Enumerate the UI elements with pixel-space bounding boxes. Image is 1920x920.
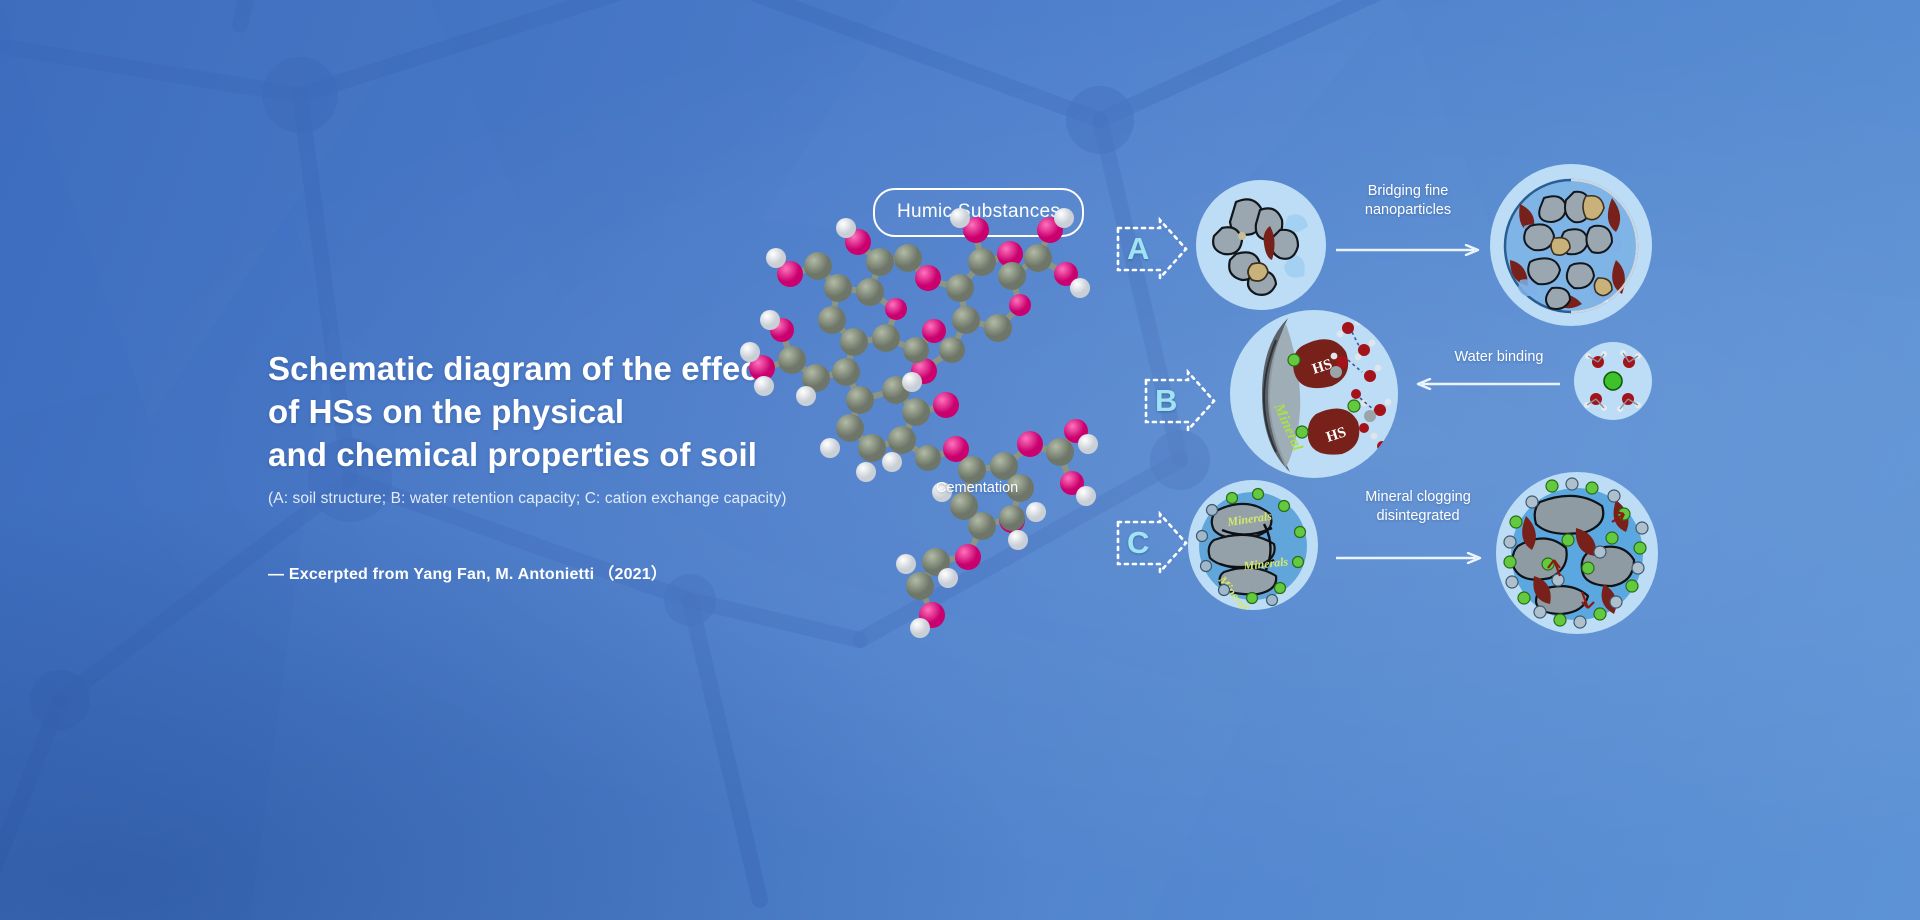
cemented-minerals-icon: Minerals Minerals Minerals xyxy=(1188,480,1318,610)
circle-soil-aggregate-bridged xyxy=(1490,164,1652,326)
row-marker-a: A xyxy=(1112,216,1190,282)
circle-disintegrated-minerals xyxy=(1496,472,1658,634)
soil-aggregate-loose-icon xyxy=(1196,180,1326,310)
flow-label-water-binding: Water binding xyxy=(1434,348,1564,367)
circle-hydrated-cation xyxy=(1574,342,1652,420)
row-marker-b: B xyxy=(1140,368,1218,434)
circle-soil-aggregate-loose xyxy=(1196,180,1326,310)
flow-arrow-right-c xyxy=(1336,552,1486,564)
flow-arrow-right-a xyxy=(1336,244,1484,256)
flow-arrow-left-b xyxy=(1412,378,1560,390)
label-cementation: Cementation xyxy=(936,480,1018,496)
row-letter-b: B xyxy=(1140,368,1218,434)
diagram: Humic Substances xyxy=(840,150,1900,770)
soil-aggregate-bridged-icon xyxy=(1490,164,1652,326)
row-letter-c: C xyxy=(1112,510,1190,576)
hydrated-cation-icon xyxy=(1574,342,1652,420)
circle-humic-mineral-water: Mineral HS HS xyxy=(1230,310,1398,478)
arrow-right-icon xyxy=(1336,244,1484,256)
attribution-year: （2021） xyxy=(598,566,667,583)
arrow-right-icon xyxy=(1336,552,1486,564)
carbon-atoms xyxy=(778,244,1074,600)
molecule-icon xyxy=(720,200,1140,650)
attribution-source: — Excerpted from Yang Fan, M. Antonietti xyxy=(268,566,594,583)
disintegrated-minerals-icon xyxy=(1496,472,1658,634)
flow-label-bridging: Bridging fine nanoparticles xyxy=(1340,182,1476,220)
flow-label-mineral-clogging: Mineral clogging disintegrated xyxy=(1338,488,1498,526)
humic-mineral-water-icon: Mineral HS HS xyxy=(1230,310,1398,478)
humic-substance-molecule xyxy=(720,200,1140,650)
circle-cemented-minerals: Minerals Minerals Minerals xyxy=(1188,480,1318,610)
row-letter-a: A xyxy=(1112,216,1190,282)
arrow-left-icon xyxy=(1412,378,1560,390)
row-marker-c: C xyxy=(1112,510,1190,576)
